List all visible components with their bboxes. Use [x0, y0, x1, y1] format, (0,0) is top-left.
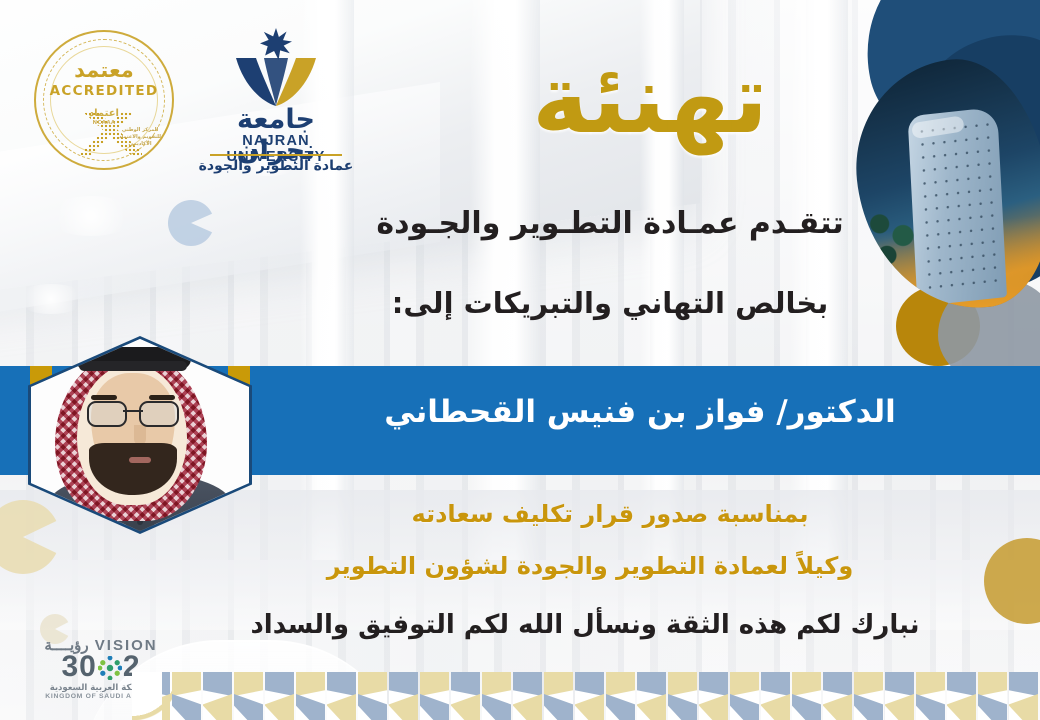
pattern-cell-top [792, 672, 821, 696]
pattern-cell-top [947, 672, 976, 696]
pattern-cell-bottom [668, 694, 697, 720]
pattern-cell [916, 672, 945, 720]
pattern-cell-bottom [947, 694, 976, 720]
pattern-cell-top [637, 672, 666, 696]
pattern-cell [1009, 672, 1038, 720]
pattern-cell [162, 672, 170, 720]
pattern-cell [792, 672, 821, 720]
pattern-cell-top [854, 672, 883, 696]
seal-arabic-label: معتمد [34, 58, 174, 82]
seal-body-label: المركز الوطني للتقويم والاعتماد الأكاديم… [112, 127, 168, 148]
pattern-cell-bottom [544, 694, 573, 720]
pattern-cell [482, 672, 511, 720]
pattern-cell-bottom [637, 694, 666, 720]
pattern-cell-top [482, 672, 511, 696]
pattern-cell-top [606, 672, 635, 696]
congratulation-card: معتمد ACCREDITED اعتماد NCAAA المركز الو… [0, 0, 1040, 720]
pattern-cell-top [162, 672, 170, 696]
pattern-cell-top [544, 672, 573, 696]
accreditation-seal: معتمد ACCREDITED اعتماد NCAAA المركز الو… [34, 30, 174, 170]
pattern-cell-bottom [451, 694, 480, 720]
pattern-cell-top [420, 672, 449, 696]
pattern-cell [699, 672, 728, 720]
glasses-lens-right [139, 401, 179, 427]
pattern-cell [761, 672, 790, 720]
saudi-emblem-icon [98, 656, 122, 680]
pattern-cell [823, 672, 852, 720]
pattern-cell [203, 672, 232, 720]
pattern-cell [606, 672, 635, 720]
vision-year-right: 30 [61, 650, 96, 683]
pattern-cell-bottom [327, 694, 356, 720]
body-line-1: تتقـدم عمـادة التطـوير والجـودة [300, 206, 920, 241]
pattern-cell-top [172, 672, 201, 696]
pattern-cell [854, 672, 883, 720]
swoosh-icon [234, 56, 318, 108]
pattern-cell [575, 672, 604, 720]
portrait-brow-right [149, 395, 175, 400]
pattern-cell-bottom [823, 694, 852, 720]
pattern-cell-top [327, 672, 356, 696]
pattern-cell [668, 672, 697, 720]
pattern-cell [885, 672, 914, 720]
calligraphy-title: تهنئة [520, 24, 780, 174]
pattern-cell-top [699, 672, 728, 696]
pattern-cell [296, 672, 325, 720]
pattern-cell-bottom [296, 694, 325, 720]
university-logo: جامعة نجران NAJRAN UNIVERSITY عمادة التط… [196, 26, 356, 166]
pattern-cell [389, 672, 418, 720]
pattern-cell-top [513, 672, 542, 696]
seal-etec-sub-label: NCAAA [34, 120, 174, 126]
pattern-cell-bottom [358, 694, 387, 720]
pattern-cell-bottom [1009, 694, 1038, 720]
pattern-cell-top [1009, 672, 1038, 696]
pattern-cell-top [358, 672, 387, 696]
pattern-cell-bottom [482, 694, 511, 720]
pattern-cell-bottom [172, 694, 201, 720]
pattern-cell-top [761, 672, 790, 696]
pattern-cell-top [885, 672, 914, 696]
pattern-cell-bottom [761, 694, 790, 720]
pattern-cell-bottom [978, 694, 1007, 720]
pattern-cell-top [823, 672, 852, 696]
pattern-cell-top [389, 672, 418, 696]
pattern-cell [637, 672, 666, 720]
pattern-cell-top [451, 672, 480, 696]
pattern-cell-top [265, 672, 294, 696]
pattern-cell-top [203, 672, 232, 696]
pattern-cell-bottom [420, 694, 449, 720]
pattern-cell [730, 672, 759, 720]
pattern-cell-bottom [885, 694, 914, 720]
pattern-cell [327, 672, 356, 720]
portrait-nose [134, 425, 146, 445]
honoree-name: الدكتور/ فواز بن فنيس القحطاني [300, 394, 980, 430]
najdi-pattern-border [162, 672, 1040, 720]
pattern-cell [451, 672, 480, 720]
pattern-cell-bottom [699, 694, 728, 720]
pattern-cell-bottom [854, 694, 883, 720]
logo-divider [210, 154, 342, 156]
pattern-cell-bottom [234, 694, 263, 720]
pattern-cell-top [668, 672, 697, 696]
pattern-cell-top [730, 672, 759, 696]
occasion-line-2: وكيلاً لعمادة التطوير والجودة لشؤون التط… [240, 552, 940, 580]
portrait-glasses [87, 401, 179, 423]
pattern-cell-bottom [513, 694, 542, 720]
pattern-cell [947, 672, 976, 720]
portrait-photo [31, 339, 249, 531]
glasses-bridge [123, 410, 143, 412]
pattern-cell [513, 672, 542, 720]
pattern-cell-bottom [162, 694, 170, 720]
deanship-label: عمادة التطوير والجودة [196, 158, 356, 174]
seal-english-label: ACCREDITED [34, 83, 174, 99]
avatar [31, 339, 249, 531]
pattern-cell-bottom [389, 694, 418, 720]
pattern-cell [172, 672, 201, 720]
pattern-cell-bottom [730, 694, 759, 720]
pattern-cell [265, 672, 294, 720]
portrait-igal-second [79, 361, 187, 371]
pattern-cell [234, 672, 263, 720]
background-light-1 [46, 196, 136, 236]
pattern-cell-bottom [575, 694, 604, 720]
pattern-cell [358, 672, 387, 720]
pattern-cell [420, 672, 449, 720]
pattern-cell-top [575, 672, 604, 696]
pattern-cell-bottom [606, 694, 635, 720]
pattern-cell [978, 672, 1007, 720]
pattern-cell-top [296, 672, 325, 696]
pattern-cell [544, 672, 573, 720]
seal-etec-label: اعتماد [34, 108, 174, 119]
pattern-cell-top [978, 672, 1007, 696]
pattern-cell-top [234, 672, 263, 696]
pattern-cell-bottom [203, 694, 232, 720]
honoree-portrait-frame [28, 336, 252, 534]
pattern-cell-top [916, 672, 945, 696]
body-line-2: بخالص التهاني والتبريكات إلى: [300, 286, 920, 320]
portrait-brow-left [91, 395, 117, 400]
background-light-2 [16, 284, 86, 314]
pattern-cell-bottom [916, 694, 945, 720]
glasses-lens-left [87, 401, 127, 427]
occasion-line-1: بمناسبة صدور قرار تكليف سعادته [280, 500, 940, 528]
pattern-cell-bottom [265, 694, 294, 720]
closing-line: نبارك لكم هذه الثقة ونسأل الله لكم التوف… [190, 610, 980, 640]
pattern-cell-bottom [792, 694, 821, 720]
portrait-mouth [129, 457, 151, 463]
